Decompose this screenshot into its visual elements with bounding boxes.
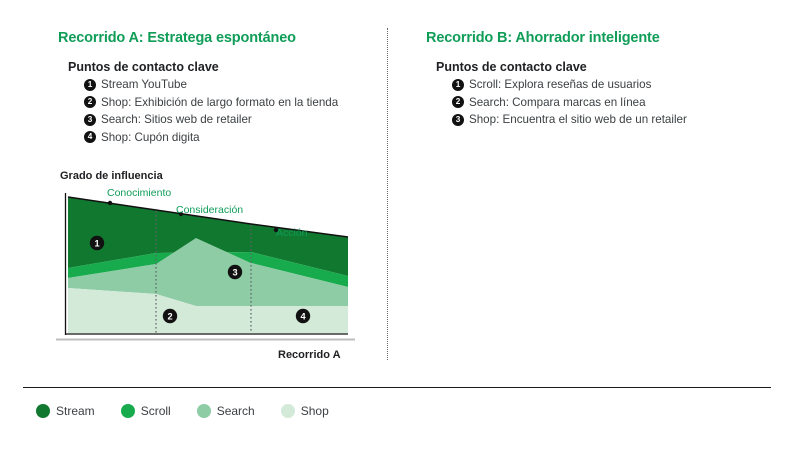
touchpoint-label: Search: Compara marcas en línea — [469, 96, 646, 109]
legend-item-shop: Shop — [281, 404, 329, 418]
touchpoint-label: Scroll: Explora reseñas de usuarios — [469, 78, 651, 91]
number-badge-icon: 3 — [452, 114, 464, 126]
list-item: 3 Shop: Encuentra el sitio web de un ret… — [452, 111, 687, 129]
panel-recorrido-b: Recorrido B: Ahorrador inteligente Punto… — [390, 0, 777, 380]
legend-item-search: Search — [197, 404, 255, 418]
legend-label: Scroll — [141, 404, 171, 418]
legend-swatch-icon — [121, 404, 135, 418]
panel-b-area-chart: Conocimiento Consideración Acción 1 2 3 — [0, 0, 404, 380]
legend-swatch-icon — [36, 404, 50, 418]
panel-divider — [387, 28, 388, 360]
chart-legend: Stream Scroll Search Shop — [36, 404, 355, 418]
legend-label: Stream — [56, 404, 95, 418]
panel-b-title: Recorrido B: Ahorrador inteligente — [426, 30, 660, 46]
legend-swatch-icon — [281, 404, 295, 418]
list-item: 1 Scroll: Explora reseñas de usuarios — [452, 76, 687, 94]
legend-label: Search — [217, 404, 255, 418]
legend-divider-rule — [23, 387, 771, 388]
panel-b-touchpoints-heading: Puntos de contacto clave — [436, 60, 587, 74]
number-badge-icon: 2 — [452, 96, 464, 108]
panel-b-touchpoint-list: 1 Scroll: Explora reseñas de usuarios 2 … — [452, 76, 687, 129]
legend-item-stream: Stream — [36, 404, 95, 418]
list-item: 2 Search: Compara marcas en línea — [452, 94, 687, 112]
legend-swatch-icon — [197, 404, 211, 418]
legend-item-scroll: Scroll — [121, 404, 171, 418]
legend-label: Shop — [301, 404, 329, 418]
touchpoint-label: Shop: Encuentra el sitio web de un retai… — [469, 113, 687, 126]
number-badge-icon: 1 — [452, 79, 464, 91]
